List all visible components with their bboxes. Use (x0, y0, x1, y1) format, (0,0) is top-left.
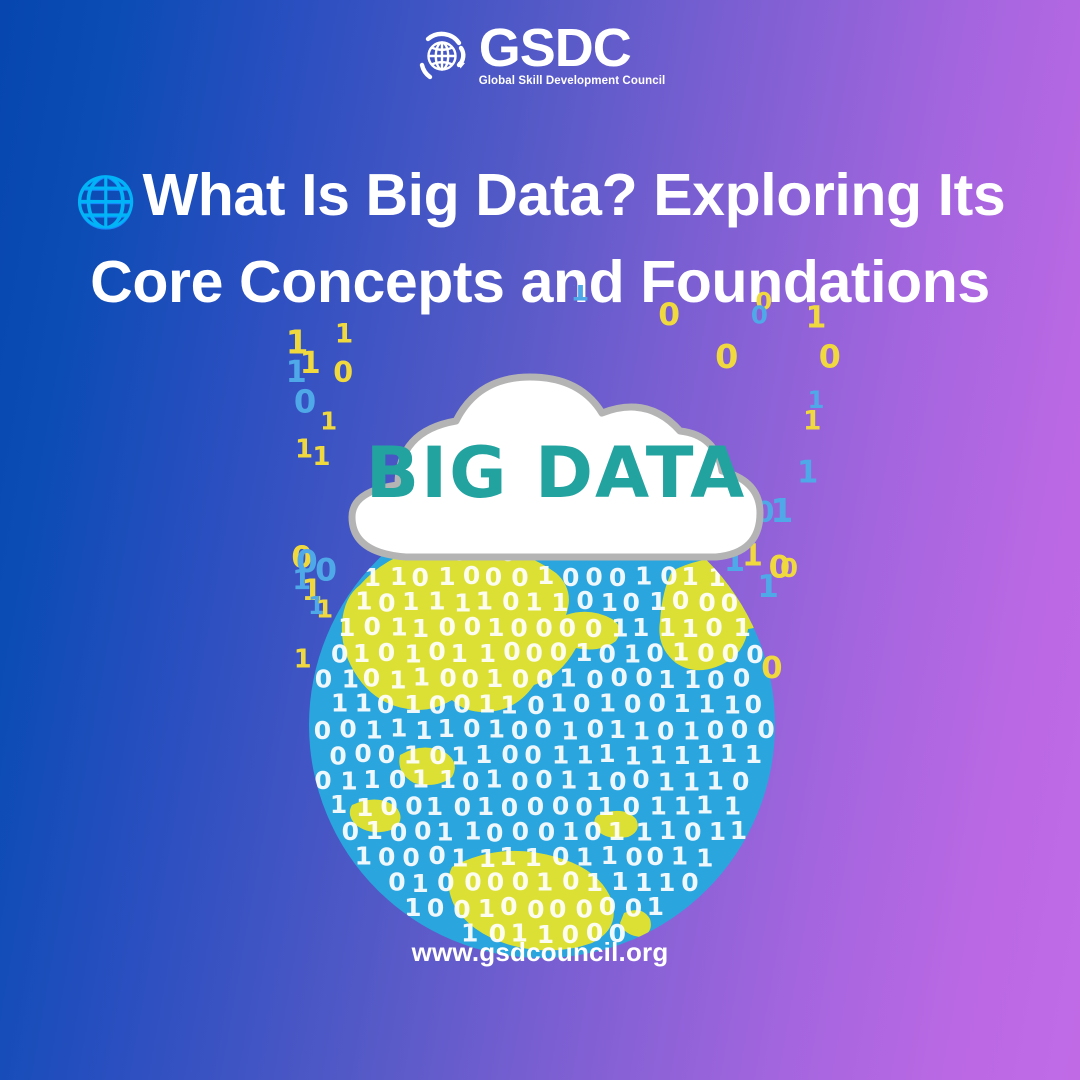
binary-digit: 0 (672, 586, 689, 615)
binary-digit: 0 (512, 665, 529, 694)
binary-digit: 1 (730, 816, 747, 845)
binary-digit: 1 (330, 790, 347, 819)
binary-digit: 1 (601, 588, 618, 617)
binary-digit: 1 (331, 688, 348, 717)
binary-digit: 1 (316, 594, 333, 623)
binary-digit: 1 (696, 740, 713, 769)
binary-digit: 0 (625, 894, 642, 923)
binary-digit: 1 (404, 893, 421, 922)
binary-digit: 0 (780, 554, 798, 584)
binary-digit: 0 (635, 663, 652, 692)
binary-digit: 1 (525, 587, 542, 616)
binary-digit: 0 (389, 765, 406, 794)
binary-digit: 0 (354, 739, 371, 768)
binary-digit: 1 (673, 689, 690, 718)
brand-tagline: Global Skill Development Council (479, 76, 666, 88)
binary-digit: 0 (464, 612, 481, 641)
binary-digit: 1 (698, 690, 715, 719)
binary-digit: 0 (363, 612, 380, 641)
page-title-line-1: What Is Big Data? Exploring Its (143, 162, 1006, 228)
brand-logo-inner: GSDC Global Skill Development Council (415, 24, 666, 87)
binary-digit: 0 (501, 740, 518, 769)
binary-digit: 0 (294, 383, 316, 421)
binary-digit: 1 (601, 841, 618, 870)
binary-digit: 1 (320, 406, 337, 435)
brand-name: GSDC (479, 24, 631, 74)
binary-digit: 1 (338, 613, 355, 642)
binary-digit: 0 (428, 637, 445, 666)
binary-digit: 1 (355, 842, 372, 871)
binary-digit: 0 (599, 892, 616, 921)
binary-digit: 1 (797, 455, 818, 491)
binary-digit: 1 (720, 739, 737, 768)
binary-digit: 1 (576, 741, 593, 770)
binary-digit: 1 (487, 613, 504, 642)
binary-digit: 1 (390, 714, 407, 743)
binary-digit: 1 (428, 586, 445, 615)
big-data-cloud: BIG DATA (352, 377, 760, 557)
binary-digit: 1 (286, 323, 309, 361)
binary-digit: 0 (439, 663, 456, 692)
binary-digit: 0 (500, 892, 517, 921)
binary-digit: 0 (437, 868, 454, 897)
binary-digit: 1 (413, 663, 430, 692)
binary-digit: 0 (464, 868, 481, 897)
binary-digit: 0 (624, 689, 641, 718)
binary-digit: 1 (486, 664, 503, 693)
binary-digit: 0 (525, 639, 542, 668)
binary-digit: 0 (428, 841, 445, 870)
binary-digit: 0 (550, 637, 567, 666)
binary-digit: 1 (673, 741, 690, 770)
binary-digit: 0 (648, 689, 665, 718)
binary-digit: 0 (562, 867, 579, 896)
binary-digit: 0 (697, 639, 714, 668)
binary-digit: 1 (611, 614, 628, 643)
binary-digit: 1 (537, 561, 554, 590)
binary-digit: 1 (757, 569, 778, 605)
website-url: www.gsdcouncil.org (0, 937, 1080, 968)
binary-digit: 1 (437, 714, 454, 743)
binary-digit: 1 (294, 644, 312, 674)
brand-text-block: GSDC Global Skill Development Council (479, 24, 666, 87)
brand-logo: GSDC Global Skill Development Council (0, 24, 1080, 87)
binary-digit: 0 (388, 868, 405, 897)
binary-digit: 1 (696, 791, 713, 820)
binary-digit: 1 (647, 892, 664, 921)
binary-digit: 0 (733, 663, 750, 692)
binary-digit: 1 (550, 689, 567, 718)
binary-digit: 0 (315, 665, 332, 694)
binary-digit: 0 (502, 587, 519, 616)
binary-digit: 0 (819, 340, 841, 376)
binary-digit: 0 (576, 586, 593, 615)
binary-digit: 1 (412, 765, 429, 794)
binary-digit: 1 (335, 319, 353, 349)
binary-digit: 1 (745, 740, 762, 769)
binary-digit: 0 (535, 765, 552, 794)
binary-digit: 1 (649, 587, 666, 616)
binary-digit: 1 (671, 842, 688, 871)
binary-digit: 0 (315, 552, 337, 588)
binary-digit: 1 (488, 714, 505, 743)
binary-digit: 1 (560, 765, 577, 794)
cloud-label: BIG DATA (366, 432, 747, 514)
binary-digit: 1 (599, 689, 616, 718)
binary-digit: 0 (333, 355, 353, 389)
binary-digit: 1 (808, 385, 825, 414)
binary-digit: 0 (380, 792, 397, 821)
binary-digit: 0 (751, 301, 768, 330)
binary-digit: 1 (575, 638, 592, 667)
big-data-illustration: 1110000000000000101010101110100010001011… (0, 285, 1080, 965)
binary-digit: 0 (552, 792, 569, 821)
binary-digit: 1 (598, 739, 615, 768)
binary-digit: 0 (463, 714, 480, 743)
binary-digit: 0 (646, 842, 663, 871)
binary-digit: 0 (681, 868, 698, 897)
binary-digit: 1 (709, 817, 726, 846)
binary-digit: 1 (672, 638, 689, 667)
binary-digit: 1 (649, 741, 666, 770)
globe-swoosh-logo-icon (415, 27, 475, 87)
binary-digit: 0 (658, 297, 680, 333)
binary-digit: 0 (534, 715, 551, 744)
social-post-canvas: GSDC Global Skill Development Council 🌐W… (0, 0, 1080, 1080)
binary-digit: 1 (355, 688, 372, 717)
binary-digit: 0 (632, 765, 649, 794)
binary-digit: 1 (485, 765, 502, 794)
binary-digit: 1 (312, 442, 330, 472)
binary-digit: 1 (571, 285, 590, 307)
binary-digit: 0 (427, 894, 444, 923)
binary-digit: 1 (439, 765, 456, 794)
binary-digit: 0 (503, 637, 520, 666)
binary-digit: 1 (363, 765, 380, 794)
globe-with-meridians-icon: 🌐 (75, 173, 137, 231)
binary-digit: 0 (378, 638, 395, 667)
binary-digit: 1 (536, 868, 553, 897)
binary-digit: 1 (402, 587, 419, 616)
binary-digit: 0 (761, 651, 782, 686)
binary-digit: 0 (715, 337, 738, 376)
binary-digit: 1 (295, 435, 313, 465)
binary-digit: 1 (733, 613, 750, 642)
binary-digit: 1 (464, 817, 481, 846)
binary-digit: 1 (806, 300, 827, 335)
